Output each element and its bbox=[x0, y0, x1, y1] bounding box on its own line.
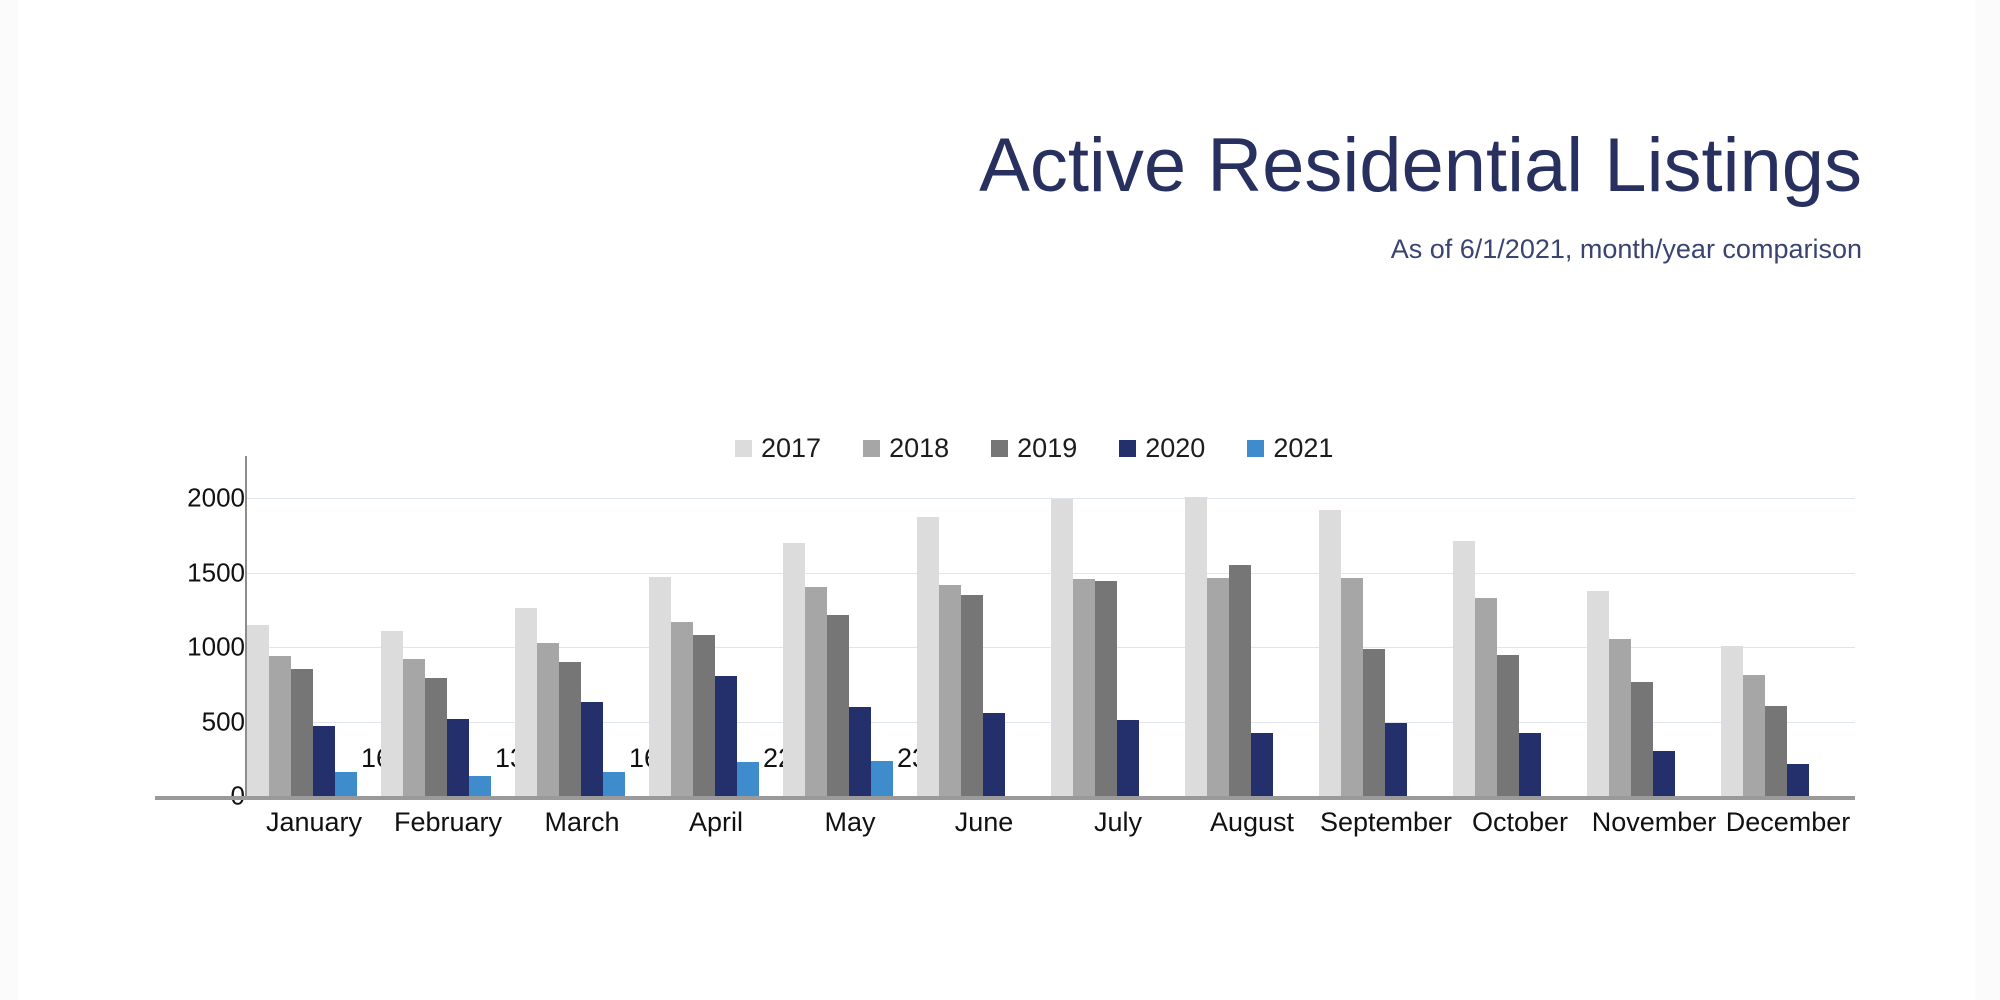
bar-2020[interactable] bbox=[715, 676, 737, 796]
bar-2019[interactable] bbox=[1229, 565, 1251, 796]
bar-group bbox=[1721, 498, 1855, 796]
bar-2019[interactable] bbox=[693, 635, 715, 796]
bar-2019[interactable] bbox=[1631, 682, 1653, 796]
x-tick-label-october: October bbox=[1453, 807, 1587, 838]
bar-2017[interactable] bbox=[917, 517, 939, 796]
bar-group bbox=[1319, 498, 1453, 796]
bar-2019[interactable] bbox=[827, 615, 849, 796]
bar-group bbox=[1051, 498, 1185, 796]
bar-2018[interactable] bbox=[671, 622, 693, 796]
x-axis-line bbox=[155, 796, 1855, 800]
bar-2018[interactable] bbox=[1475, 598, 1497, 796]
page-title: Active Residential Listings bbox=[0, 128, 1862, 204]
bar-2017[interactable] bbox=[1185, 497, 1207, 796]
bar-2018[interactable] bbox=[939, 585, 961, 796]
x-tick-label-august: August bbox=[1185, 807, 1319, 838]
bar-2018[interactable] bbox=[1609, 639, 1631, 796]
bar-2020[interactable] bbox=[447, 719, 469, 796]
bar-group bbox=[917, 498, 1051, 796]
plot-wrapper: 0500100015002000 163136163229236 January… bbox=[155, 443, 1855, 828]
bar-2017[interactable] bbox=[783, 543, 805, 796]
x-tick-label-january: January bbox=[247, 807, 381, 838]
bar-2020[interactable] bbox=[983, 713, 1005, 796]
bar-2018[interactable] bbox=[1743, 675, 1765, 796]
bar-2020[interactable] bbox=[1653, 751, 1675, 796]
bar-2019[interactable] bbox=[961, 595, 983, 796]
bar-2020[interactable] bbox=[313, 726, 335, 796]
y-axis-tick-labels: 0500100015002000 bbox=[155, 498, 245, 796]
bar-2021[interactable]: 163 bbox=[603, 772, 625, 796]
x-tick-label-march: March bbox=[515, 807, 649, 838]
x-tick-label-september: September bbox=[1319, 807, 1453, 838]
bar-2019[interactable] bbox=[559, 662, 581, 796]
bar-2019[interactable] bbox=[425, 678, 447, 796]
bar-group bbox=[1185, 498, 1319, 796]
bar-2017[interactable] bbox=[649, 577, 671, 796]
x-tick-label-april: April bbox=[649, 807, 783, 838]
bar-groups: 163136163229236 bbox=[247, 498, 1855, 796]
x-tick-label-december: December bbox=[1721, 807, 1855, 838]
bar-2021[interactable]: 136 bbox=[469, 776, 491, 796]
plot-area: 163136163229236 bbox=[247, 498, 1855, 796]
bar-group: 163 bbox=[515, 498, 649, 796]
bar-2017[interactable] bbox=[1721, 646, 1743, 796]
bar-2020[interactable] bbox=[849, 707, 871, 796]
y-tick-label: 1500 bbox=[187, 557, 245, 588]
bar-2017[interactable] bbox=[1051, 499, 1073, 796]
y-tick-label: 500 bbox=[202, 706, 245, 737]
bar-2021[interactable]: 229 bbox=[737, 762, 759, 796]
chart-container: 20172018201920202021 0500100015002000 16… bbox=[155, 430, 1855, 830]
bar-2017[interactable] bbox=[381, 631, 403, 796]
bar-2018[interactable] bbox=[403, 659, 425, 796]
bar-group bbox=[1587, 498, 1721, 796]
bar-2018[interactable] bbox=[1341, 578, 1363, 796]
bar-group: 229 bbox=[649, 498, 783, 796]
bar-2018[interactable] bbox=[537, 643, 559, 796]
x-tick-label-may: May bbox=[783, 807, 917, 838]
x-tick-label-july: July bbox=[1051, 807, 1185, 838]
bar-group: 136 bbox=[381, 498, 515, 796]
bar-2021[interactable]: 163 bbox=[335, 772, 357, 796]
bar-2018[interactable] bbox=[1207, 578, 1229, 796]
bar-2021[interactable]: 236 bbox=[871, 761, 893, 796]
bar-2018[interactable] bbox=[1073, 579, 1095, 796]
x-tick-label-february: February bbox=[381, 807, 515, 838]
x-tick-label-june: June bbox=[917, 807, 1051, 838]
bar-2020[interactable] bbox=[1519, 733, 1541, 796]
bar-2018[interactable] bbox=[805, 587, 827, 796]
bar-2019[interactable] bbox=[1095, 581, 1117, 796]
bar-2017[interactable] bbox=[515, 608, 537, 796]
bar-2020[interactable] bbox=[581, 702, 603, 796]
bar-2019[interactable] bbox=[1497, 655, 1519, 796]
bar-2020[interactable] bbox=[1251, 733, 1273, 796]
bar-2019[interactable] bbox=[291, 669, 313, 796]
x-tick-label-november: November bbox=[1587, 807, 1721, 838]
bar-2020[interactable] bbox=[1385, 723, 1407, 796]
bar-group: 236 bbox=[783, 498, 917, 796]
title-block: Active Residential Listings As of 6/1/20… bbox=[0, 128, 1862, 265]
bar-2017[interactable] bbox=[1587, 591, 1609, 796]
bar-2019[interactable] bbox=[1765, 706, 1787, 796]
bar-group: 163 bbox=[247, 498, 381, 796]
bar-2019[interactable] bbox=[1363, 649, 1385, 797]
bar-2017[interactable] bbox=[1319, 510, 1341, 796]
bar-2017[interactable] bbox=[247, 625, 269, 796]
y-tick-label: 2000 bbox=[187, 483, 245, 514]
bar-2018[interactable] bbox=[269, 656, 291, 796]
y-tick-label: 1000 bbox=[187, 632, 245, 663]
bar-group bbox=[1453, 498, 1587, 796]
bar-2020[interactable] bbox=[1787, 764, 1809, 796]
page-subtitle: As of 6/1/2021, month/year comparison bbox=[0, 204, 1862, 265]
bar-2020[interactable] bbox=[1117, 720, 1139, 796]
bar-2017[interactable] bbox=[1453, 541, 1475, 796]
x-axis-tick-labels: JanuaryFebruaryMarchAprilMayJuneJulyAugu… bbox=[247, 807, 1855, 838]
